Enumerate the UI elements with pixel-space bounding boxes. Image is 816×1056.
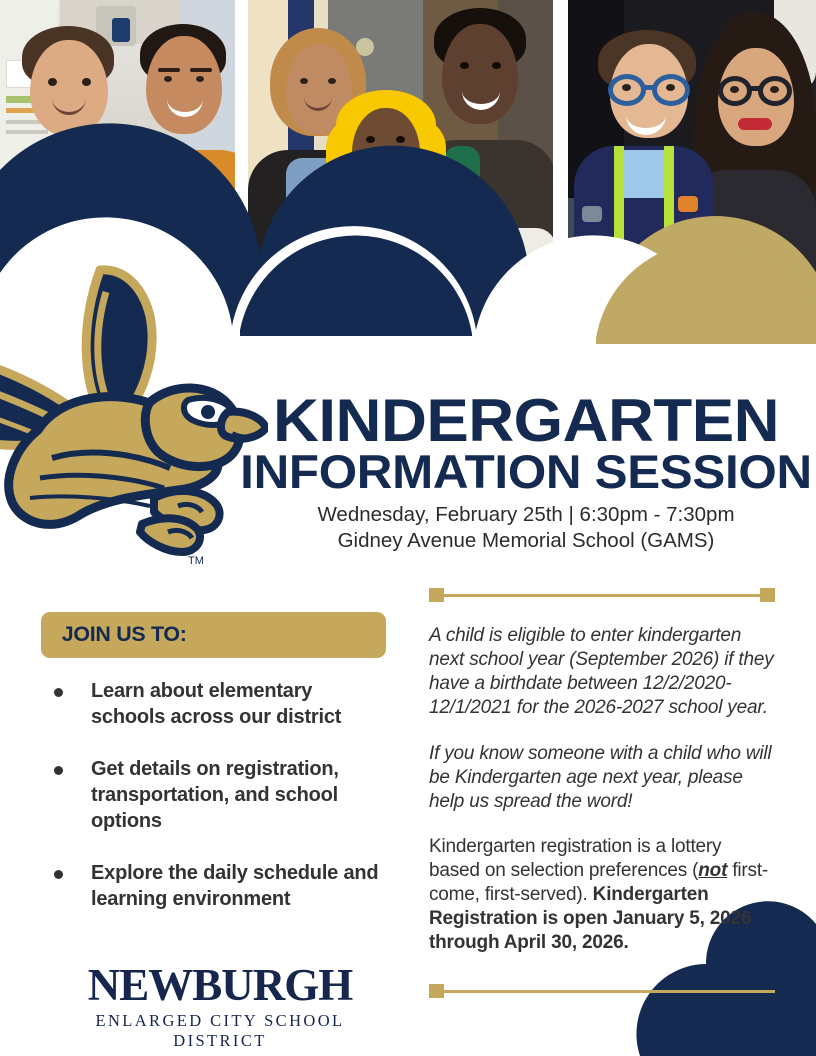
divider-top bbox=[429, 588, 775, 602]
divider-bottom bbox=[429, 984, 775, 998]
list-item-label: Explore the daily schedule and learning … bbox=[91, 860, 386, 912]
divider-cap-left bbox=[429, 588, 444, 602]
divider-cap-left bbox=[429, 984, 444, 998]
join-us-label: JOIN US TO: bbox=[62, 623, 187, 647]
page-title-line1: KINDERGARTEN bbox=[231, 395, 816, 448]
divider-bar bbox=[429, 990, 775, 993]
bullet-dot-icon bbox=[54, 766, 63, 775]
flyer-page: TM KINDERGARTEN INFORMATION SESSION Wedn… bbox=[0, 0, 816, 1056]
list-item: Get details on registration, transportat… bbox=[41, 756, 386, 834]
list-item-label: Get details on registration, transportat… bbox=[91, 756, 386, 834]
photo-3 bbox=[568, 0, 816, 320]
benefits-list: Learn about elementary schools across ou… bbox=[41, 678, 386, 912]
district-tagline: ENLARGED CITY SCHOOL DISTRICT bbox=[52, 1011, 388, 1051]
mascot-tm-mark: TM bbox=[188, 555, 204, 567]
list-item-label: Learn about elementary schools across ou… bbox=[91, 678, 386, 730]
bullet-dot-icon bbox=[54, 870, 63, 879]
spread-word-paragraph: If you know someone with a child who wil… bbox=[429, 742, 775, 814]
lottery-text-prefix: Kindergarten registration is a lottery b… bbox=[429, 836, 721, 881]
eligibility-paragraph: A child is eligible to enter kindergarte… bbox=[429, 624, 775, 721]
list-item: Learn about elementary schools across ou… bbox=[41, 678, 386, 730]
title-block: KINDERGARTEN INFORMATION SESSION Wednesd… bbox=[248, 395, 804, 554]
lottery-not-emphasis: not bbox=[698, 860, 727, 881]
district-name: NEWBURGH bbox=[52, 963, 388, 1008]
page-title-line2: INFORMATION SESSION bbox=[234, 450, 816, 495]
list-item: Explore the daily schedule and learning … bbox=[41, 860, 386, 912]
photo-2 bbox=[248, 0, 553, 320]
join-us-banner: JOIN US TO: bbox=[41, 612, 386, 658]
bullet-dot-icon bbox=[54, 688, 63, 697]
eligibility-column: A child is eligible to enter kindergarte… bbox=[429, 588, 775, 977]
lottery-paragraph: Kindergarten registration is a lottery b… bbox=[429, 835, 775, 956]
event-location: Gidney Avenue Memorial School (GAMS) bbox=[248, 528, 804, 554]
join-us-column: JOIN US TO: Learn about elementary schoo… bbox=[41, 612, 386, 938]
event-datetime: Wednesday, February 25th | 6:30pm - 7:30… bbox=[248, 502, 804, 528]
divider-bar bbox=[429, 594, 775, 597]
district-logo: NEWBURGH ENLARGED CITY SCHOOL DISTRICT bbox=[52, 963, 388, 1051]
goldenhawk-mascot-logo: TM bbox=[0, 262, 268, 572]
divider-cap-right bbox=[760, 588, 775, 602]
